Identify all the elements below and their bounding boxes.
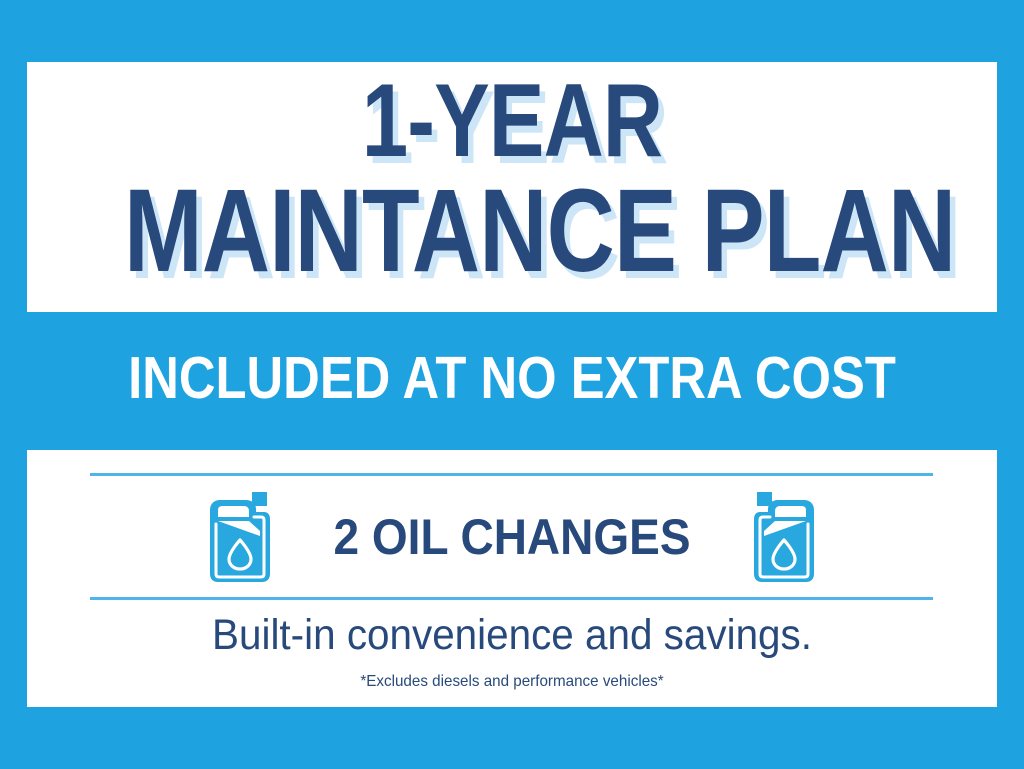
- feature-row: 2 OIL CHANGES: [27, 487, 997, 587]
- divider-rule-bottom: [90, 597, 933, 600]
- headline-panel: 1-YEAR MAINTANCE PLAN: [27, 62, 997, 312]
- disclaimer-text: *Excludes diesels and performance vehicl…: [26, 673, 999, 691]
- headline-stack: 1-YEAR MAINTANCE PLAN: [27, 72, 997, 287]
- oil-jug-icon: [750, 490, 822, 584]
- divider-rule-top: [90, 473, 933, 476]
- headline-line-2: MAINTANCE PLAN: [124, 175, 900, 287]
- feature-label: 2 OIL CHANGES: [333, 508, 690, 566]
- headline-line-1: 1-YEAR: [124, 72, 900, 171]
- oil-jug-icon: [202, 490, 274, 584]
- subtitle-text: INCLUDED AT NO EXTRA COST: [72, 344, 953, 412]
- maintenance-plan-poster: 1-YEAR MAINTANCE PLAN INCLUDED AT NO EXT…: [0, 0, 1024, 769]
- tagline-text: Built-in convenience and savings.: [31, 611, 994, 660]
